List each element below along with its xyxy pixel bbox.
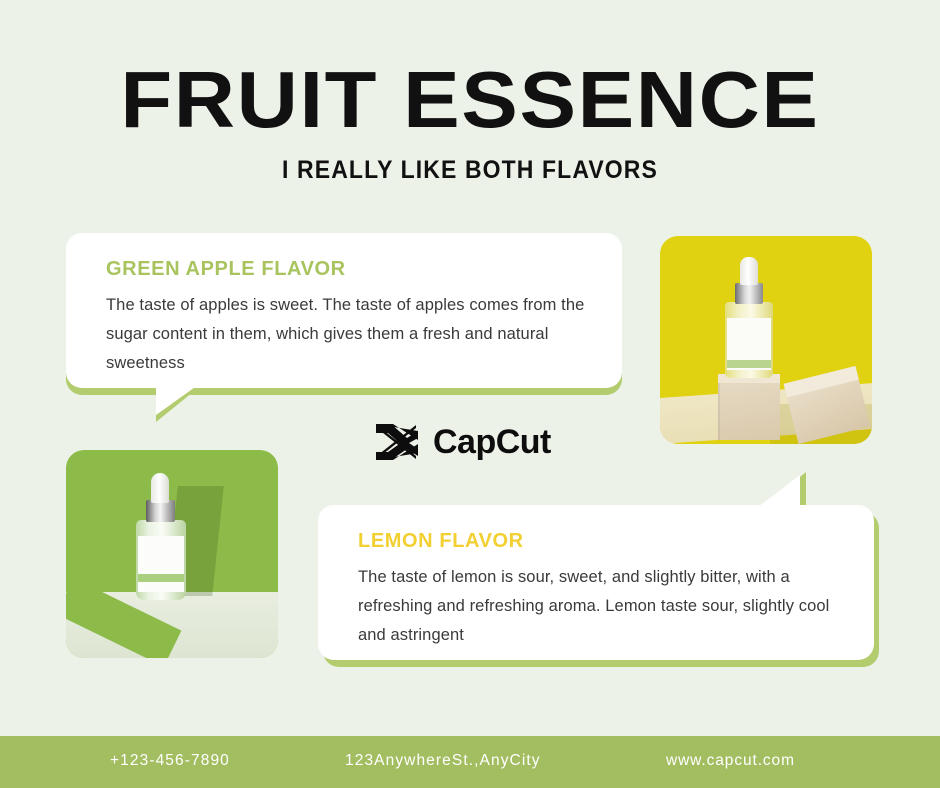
- footer-address: 123AnywhereSt.,AnyCity: [345, 752, 541, 770]
- serum-dropper-cap: [151, 473, 169, 503]
- footer-bar: +123-456-7890 123AnywhereSt.,AnyCity www…: [0, 736, 940, 788]
- green-serum-photo: [66, 450, 278, 658]
- yellow-serum-photo: [660, 236, 872, 444]
- card-lemon-flavor: LEMON FLAVOR The taste of lemon is sour,…: [318, 505, 874, 660]
- serum-label-green-stripe: [727, 360, 771, 368]
- serum-bottle-metal-collar: [735, 283, 763, 304]
- capcut-logo-icon: [374, 422, 420, 462]
- page-title: FRUIT ESSENCE: [0, 58, 940, 142]
- footer-website: www.capcut.com: [666, 752, 795, 770]
- bubble-tail-apple: [156, 385, 198, 415]
- serum-bottle-label: [138, 536, 184, 592]
- poster-canvas: FRUIT ESSENCE I REALLY LIKE BOTH FLAVORS…: [0, 0, 940, 788]
- wooden-block-upright: [718, 374, 780, 440]
- bubble-tail-lemon: [758, 475, 800, 507]
- card-body-lemon: The taste of lemon is sour, sweet, and s…: [358, 563, 840, 650]
- card-title-green-apple: GREEN APPLE FLAVOR: [106, 258, 346, 281]
- serum-bottle-metal-collar: [146, 500, 175, 522]
- capcut-logo-text: CapCut: [433, 425, 551, 459]
- card-body-green-apple: The taste of apples is sweet. The taste …: [106, 291, 588, 378]
- page-subtitle: I REALLY LIKE BOTH FLAVORS: [38, 155, 903, 185]
- capcut-logo: CapCut: [374, 422, 551, 462]
- serum-label-green-stripe: [138, 574, 184, 582]
- footer-phone: +123-456-7890: [110, 752, 230, 770]
- card-green-apple-flavor: GREEN APPLE FLAVOR The taste of apples i…: [66, 233, 622, 388]
- serum-dropper-cap: [740, 257, 758, 285]
- card-title-lemon: LEMON FLAVOR: [358, 530, 524, 553]
